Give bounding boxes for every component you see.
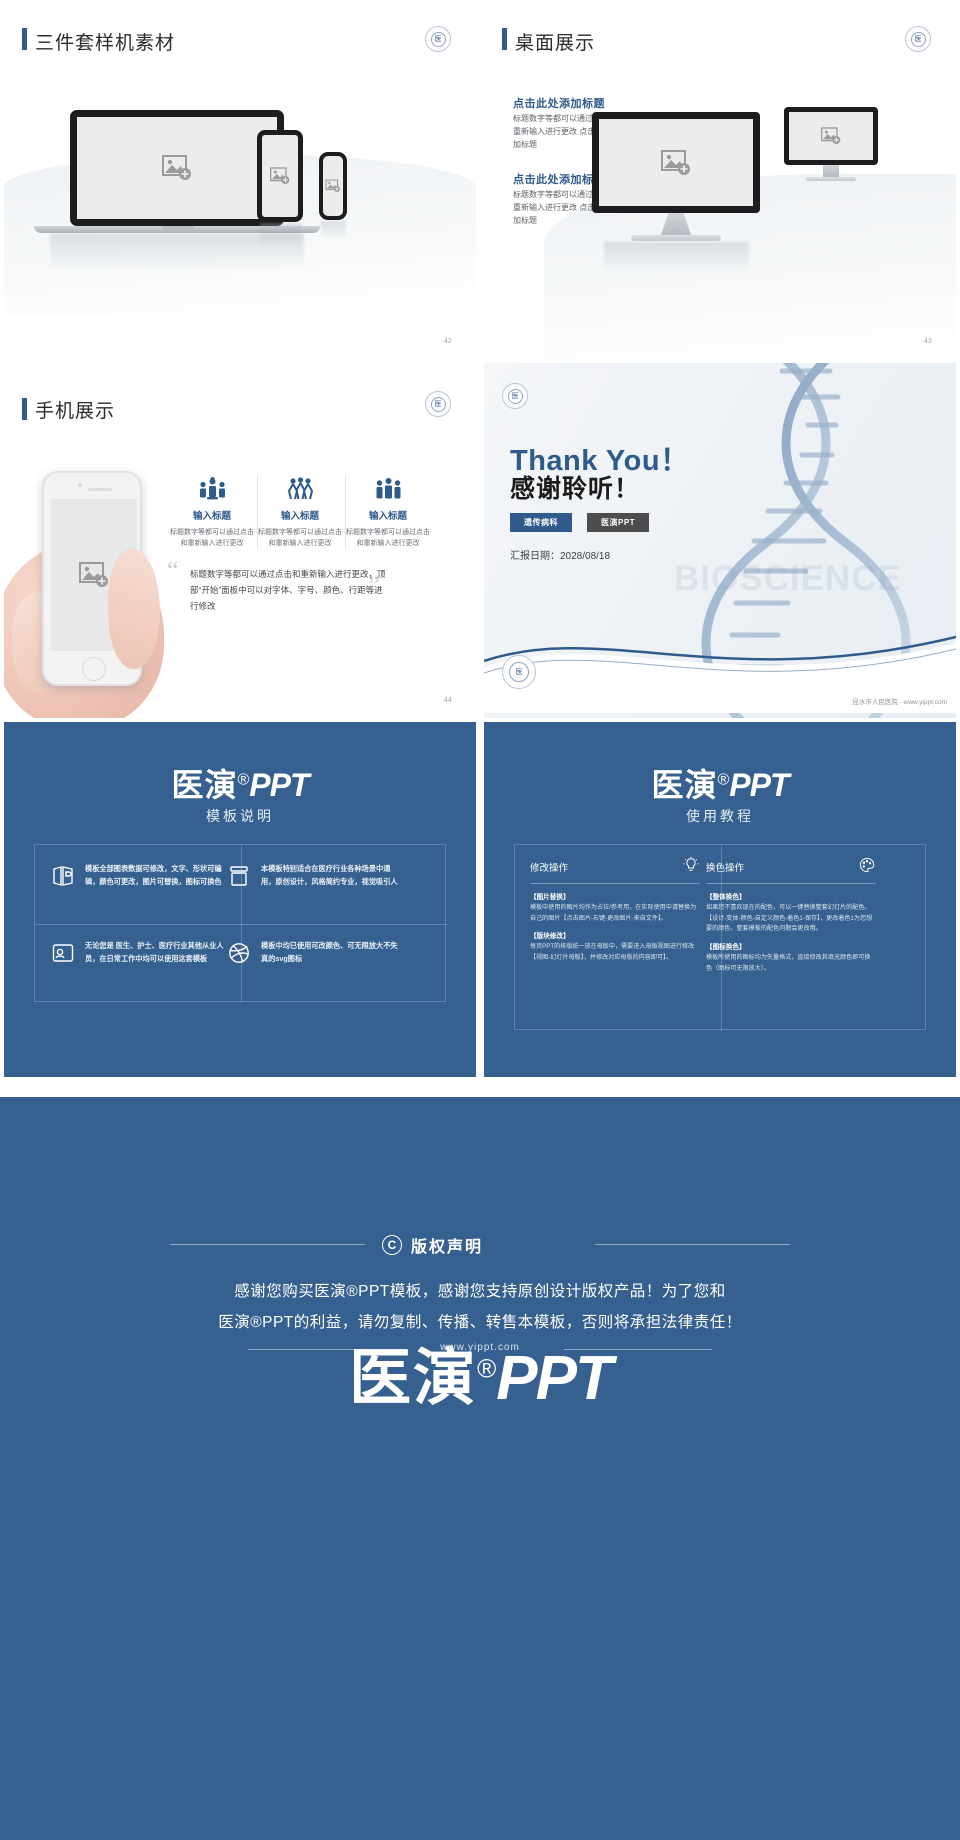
report-date: 汇报日期：2028/08/18: [510, 547, 610, 562]
people-check-icon: [169, 475, 255, 502]
user-card-icon: [50, 939, 76, 966]
copyright-badge-label: 版权声明: [411, 1233, 483, 1257]
laptop-notch: [162, 226, 194, 230]
hospital-logo-icon: 医: [905, 26, 931, 52]
feature-column-2: 输入标题 标题数字等都可以通过点击和重新输入进行更改: [257, 475, 343, 549]
copyright-line-1: 感谢您购买医演®PPT模板，感谢您支持原创设计版权产品！为了您和: [150, 1276, 810, 1307]
phone-speaker-icon: [88, 488, 112, 491]
title-accent-bar: [22, 28, 27, 50]
block-heading: 点击此处添加标题: [513, 95, 605, 111]
dribbble-icon: [226, 939, 252, 966]
copyright-line-2: 医演®PPT的利益，请勿复制、传播、转售本模板，否则将承担法律责任！: [150, 1307, 810, 1338]
title-accent-bar: [502, 28, 507, 50]
tutorial-section-title: 【版块修改】: [530, 930, 700, 940]
feature-cell-2: 本模板特别适合在医疗行业各种场景中通用，原创设计，风格简约专业，视觉吸引人: [226, 862, 402, 889]
brand-chip[interactable]: 医演PPT: [587, 513, 649, 532]
tutorial-section-title: 【图片替换】: [530, 891, 700, 901]
laptop-mockup: [70, 110, 284, 226]
palette-icon: [858, 856, 876, 877]
brand-cjk: 医演: [171, 767, 237, 803]
feature-cell-text: 模板全部图表数据可修改，文字、形状可编辑，颜色可更改，图片可替换，图标可换色: [85, 862, 226, 889]
tutorial-section-title: 【图标换色】: [706, 941, 876, 951]
tutorial-section-body: 如果您不喜欢现在的配色，可以一键替换整套幻灯片的配色。【设计-变体-颜色-自定义…: [706, 903, 876, 935]
slide-footer: 昆水市人民医院 · www.yippt.com: [852, 696, 947, 706]
image-add-icon: [821, 127, 841, 145]
tutorial-column-head: 换色操作: [706, 856, 876, 877]
feature-cell-text: 无论您是 医生、护士、医疗行业其他从业人员，在日常工作中均可以使用这套模板: [85, 939, 226, 966]
image-add-icon: [79, 562, 109, 588]
monitor-foot-large: [631, 235, 721, 241]
monitor-reflection: [604, 242, 749, 272]
tutorial-column-head: 修改操作: [530, 856, 700, 877]
brand-reg: ®: [477, 1353, 496, 1383]
tutorial-head-label: 换色操作: [706, 860, 744, 874]
feature-column-1: 输入标题 标题数字等都可以通过点击和重新输入进行更改: [169, 475, 255, 549]
slide-usage-tutorial[interactable]: 医演®PPT 使用教程 修改操作 【图片替换】 模板中使用的图片均作为占位/参考…: [484, 722, 956, 1077]
feature-desc: 标题数字等都可以通过点击和重新输入进行更改: [257, 527, 343, 549]
page-number: 44: [444, 697, 452, 704]
brand-ppt: PPT: [496, 1344, 611, 1413]
brand-ppt: PPT: [729, 767, 788, 803]
tutorial-head-label: 修改操作: [530, 860, 568, 874]
box-icon: [226, 862, 252, 889]
slide-mobile-display[interactable]: 手机展示 医: [4, 363, 476, 718]
ppt-preview-page: 三件套样机素材 医: [0, 0, 960, 1840]
tutorial-section-title: 【整体换色】: [706, 891, 876, 901]
phone-camera-icon: [78, 483, 82, 487]
feature-cell-text: 本模板特别适合在医疗行业各种场景中通用，原创设计，风格简约专业，视觉吸引人: [261, 862, 402, 889]
brand-ppt: PPT: [249, 767, 308, 803]
feature-desc: 标题数字等都可以通过点击和重新输入进行更改: [345, 527, 431, 549]
copyright-badge: C 版权声明: [382, 1233, 483, 1257]
slide-subtitle: 使用教程: [484, 806, 956, 826]
brand-logo: 医演®PPT: [4, 760, 476, 806]
slide-three-devices[interactable]: 三件套样机素材 医: [4, 4, 476, 359]
feature-desc: 标题数字等都可以通过点击和重新输入进行更改: [169, 527, 255, 549]
tutorial-rule: [530, 883, 700, 884]
monitor-mockup-large: [592, 112, 760, 213]
feature-cell-text: 模板中均已使用可改颜色、可无限放大不失真的svg图标: [261, 939, 402, 966]
copyright-brand-logo: 医演®PPT: [0, 1327, 960, 1417]
quote-open-icon: “: [167, 558, 179, 584]
slide-thank-you[interactable]: 医 BIOSCIENCE Thank You！ 感谢聆听！ 遗传病科 医演PPT…: [484, 363, 956, 718]
brand-reg: ®: [237, 771, 249, 788]
people-group-icon: [257, 475, 343, 502]
monitor-mockup-small: [784, 107, 878, 165]
slide-subtitle: 模板说明: [4, 806, 476, 826]
image-add-icon: [661, 150, 691, 176]
people-three-icon: [345, 475, 431, 502]
feature-cell-1: 模板全部图表数据可修改，文字、形状可编辑，颜色可更改，图片可替换，图标可换色: [50, 862, 226, 889]
slide-title: 三件套样机素材: [35, 28, 175, 55]
copyright-icon: C: [382, 1235, 402, 1255]
brand-reg: ®: [717, 771, 729, 788]
tutorial-column-recolor: 换色操作 【整体换色】 如果您不喜欢现在的配色，可以一键替换整套幻灯片的配色。【…: [706, 856, 876, 974]
slide-template-instructions[interactable]: 医演®PPT 模板说明 模板全部图表数据可修改，文字、形状可编辑，颜色可更改，图…: [4, 722, 476, 1077]
feature-caption: 输入标题: [257, 508, 343, 522]
slide-copyright[interactable]: 医演®PPT C 版权声明 感谢您购买医演®PPT模板，感谢您支持原创设计版权产…: [0, 1097, 960, 1840]
monitor-foot-small: [806, 177, 856, 181]
quote-text: 标题数字等都可以通过点击和重新输入进行更改，顶部“开始”面板中可以对字体、字号、…: [190, 566, 390, 614]
phone-home-button: [82, 657, 106, 681]
phone-reflection: [321, 221, 346, 239]
phone-mockup: [319, 152, 347, 220]
feature-cell-3: 无论您是 医生、护士、医疗行业其他从业人员，在日常工作中均可以使用这套模板: [50, 939, 226, 966]
slide-title: 手机展示: [35, 396, 115, 423]
page-number: 43: [924, 338, 932, 345]
brand-cjk: 医演: [651, 767, 717, 803]
tablet-mockup: [257, 130, 303, 222]
tutorial-section-body: 模板中使用的图片均作为占位/参考用，在实际使用中请替换为自己的图片【点击图片-右…: [530, 903, 700, 924]
copyright-url: www.yippt.com: [0, 1342, 960, 1353]
feature-caption: 输入标题: [345, 508, 431, 522]
feature-column-3: 输入标题 标题数字等都可以通过点击和重新输入进行更改: [345, 475, 431, 549]
brand-cjk: 医演: [349, 1344, 477, 1413]
tutorial-section-body: 模板所使用的图标均为矢量格式，直接修改其填充颜色即可换色（图标可无限放大）。: [706, 953, 876, 974]
slide-desktop-display[interactable]: 桌面展示 医 点击此处添加标题 标题数字等都可以通过点击和重新输入进行更改 点击…: [484, 4, 956, 359]
hospital-seal-icon: 医: [502, 655, 536, 689]
hospital-logo-icon: 医: [502, 383, 528, 409]
image-add-icon: [326, 180, 341, 193]
hospital-logo-icon: 医: [425, 391, 451, 417]
bulb-icon: [682, 856, 700, 877]
feature-caption: 输入标题: [169, 508, 255, 522]
bioscience-watermark: BIOSCIENCE: [674, 559, 902, 599]
tutorial-column-modify: 修改操作 【图片替换】 模板中使用的图片均作为占位/参考用，在实际使用中请替换为…: [530, 856, 700, 964]
thank-you-title-cn: 感谢聆听！: [510, 469, 640, 505]
image-add-icon: [270, 167, 290, 185]
slide-title: 桌面展示: [515, 28, 595, 55]
tutorial-rule: [706, 883, 876, 884]
feature-cell-4: 模板中均已使用可改颜色、可无限放大不失真的svg图标: [226, 939, 402, 966]
title-accent-bar: [22, 398, 27, 420]
tutorial-section-body: 每页PPT的排版统一放在母版中，需要进入母版视图进行修改【视图-幻灯片母版】，并…: [530, 942, 700, 963]
department-chip[interactable]: 遗传病科: [510, 513, 572, 532]
monitor-stand-small: [823, 165, 839, 177]
image-add-icon: [162, 155, 192, 181]
hospital-logo-icon: 医: [425, 26, 451, 52]
copyright-text: 感谢您购买医演®PPT模板，感谢您支持原创设计版权产品！为了您和 医演®PPT的…: [150, 1276, 810, 1338]
brand-logo: 医演®PPT: [484, 760, 956, 806]
page-number: 42: [444, 338, 452, 345]
tablet-reflection: [260, 223, 302, 247]
book-open-icon: [50, 862, 76, 889]
